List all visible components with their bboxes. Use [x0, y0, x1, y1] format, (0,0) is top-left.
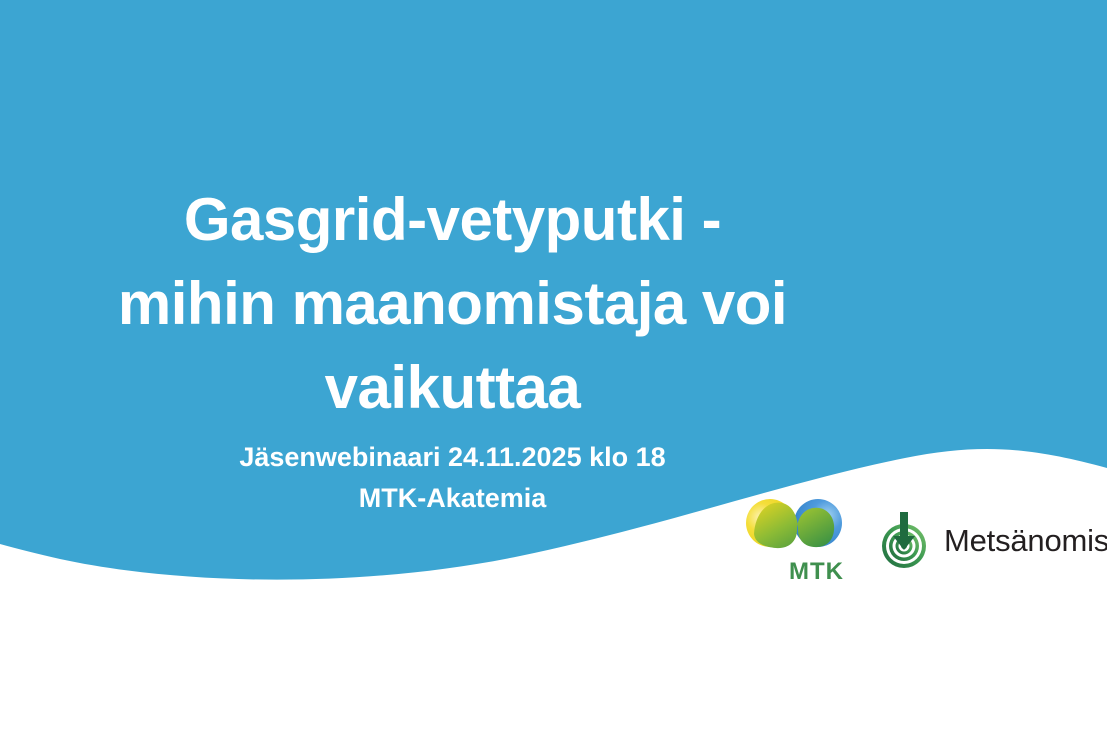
metsanomistajat-tree-rings-arrow-icon — [876, 512, 932, 570]
logo-row: MTK — [742, 497, 1107, 585]
mtk-logo: MTK — [742, 497, 846, 585]
title-line-2: mihin maanomistaja voi — [0, 262, 905, 346]
subtitle-line-event-date: Jäsenwebinaari 24.11.2025 klo 18 — [0, 437, 905, 478]
title-slide: Gasgrid-vetyputki - mihin maanomistaja v… — [0, 0, 1107, 746]
metsanomistajat-wordmark: Metsänomistajat — [944, 524, 1107, 558]
mtk-wordmark: MTK — [789, 559, 844, 585]
title-line-1: Gasgrid-vetyputki - — [0, 178, 905, 262]
mtk-wave-mark-icon — [742, 497, 846, 559]
metsanomistajat-logo: Metsänomistajat — [876, 512, 1107, 570]
page-title: Gasgrid-vetyputki - mihin maanomistaja v… — [0, 178, 905, 430]
title-line-3: vaikuttaa — [0, 346, 905, 430]
